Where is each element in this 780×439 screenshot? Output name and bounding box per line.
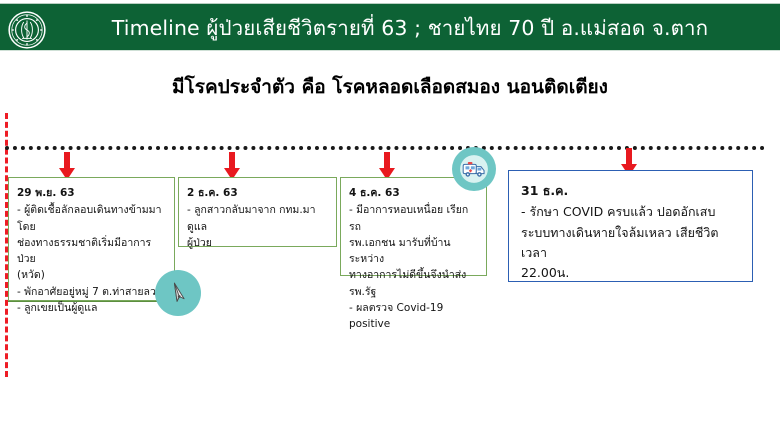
event-line: - ผลตรวจ Covid-19 positive (349, 300, 478, 333)
event-line: - ลูกสาวกลับมาจาก กทม.มาดูแล (187, 202, 328, 235)
event-line: - มีอาการหอบเหนื่อย เรียกรถ (349, 202, 478, 235)
timeline-dotted-line (5, 146, 765, 150)
event-line: - ลูกเขยเป็นผู้ดูแล (17, 300, 166, 316)
event-line: ผู้ป่วย (187, 235, 328, 251)
ambulance-icon (452, 147, 496, 191)
red-down-arrow-icon (378, 152, 396, 180)
event-box-1[interactable]: 29 พ.ย. 63 - ผู้ติดเชื้อลักลอบเดินทางข้า… (8, 177, 175, 301)
event-date: 4 ธ.ค. 63 (349, 185, 478, 201)
compass-icon (155, 270, 201, 316)
event-date: 31 ธ.ค. (521, 181, 742, 201)
header-bar: Timeline ผู้ป่วยเสียชีวิตรายที่ 63 ; ชาย… (0, 3, 780, 51)
moph-logo-icon (8, 11, 46, 49)
event-line: รพ.เอกชน มารับที่บ้าน ระหว่าง (349, 235, 478, 268)
subtitle-text: มีโรคประจำตัว คือ โรคหลอดเลือดสมอง นอนติ… (0, 72, 780, 102)
red-down-arrow-icon (58, 152, 76, 180)
event-line: (หวัด) (17, 267, 166, 283)
event-box-3[interactable]: 4 ธ.ค. 63 - มีอาการหอบเหนื่อย เรียกรถ รพ… (340, 177, 487, 276)
page-title: Timeline ผู้ป่วยเสียชีวิตรายที่ 63 ; ชาย… (60, 4, 760, 52)
event-line: - ผู้ติดเชื้อลักลอบเดินทางข้ามมาโดย (17, 202, 166, 235)
red-down-arrow-icon (223, 152, 241, 180)
event-line: ระบบทางเดินหายใจล้มเหลว เสียชีวิตเวลา (521, 223, 742, 264)
event-date: 29 พ.ย. 63 (17, 185, 166, 201)
event-box-2[interactable]: 2 ธ.ค. 63 - ลูกสาวกลับมาจาก กทม.มาดูแล ผ… (178, 177, 337, 247)
event-line: ช่องทางธรรมชาติเริ่มมีอาการป่วย (17, 235, 166, 268)
event-line: 22.00น. (521, 263, 742, 283)
event-line: ทางอาการไม่ดีขึ้นจึงนำส่งรพ.รัฐ (349, 267, 478, 300)
event-line: - รักษา COVID ครบแล้ว ปอดอักเสบ (521, 202, 742, 222)
event-line: - พักอาศัยอยู่หมู่ 7 ต.ท่าสายลวด (17, 284, 166, 300)
event-date: 2 ธ.ค. 63 (187, 185, 328, 201)
event-box-4[interactable]: 31 ธ.ค. - รักษา COVID ครบแล้ว ปอดอักเสบ … (508, 170, 753, 282)
